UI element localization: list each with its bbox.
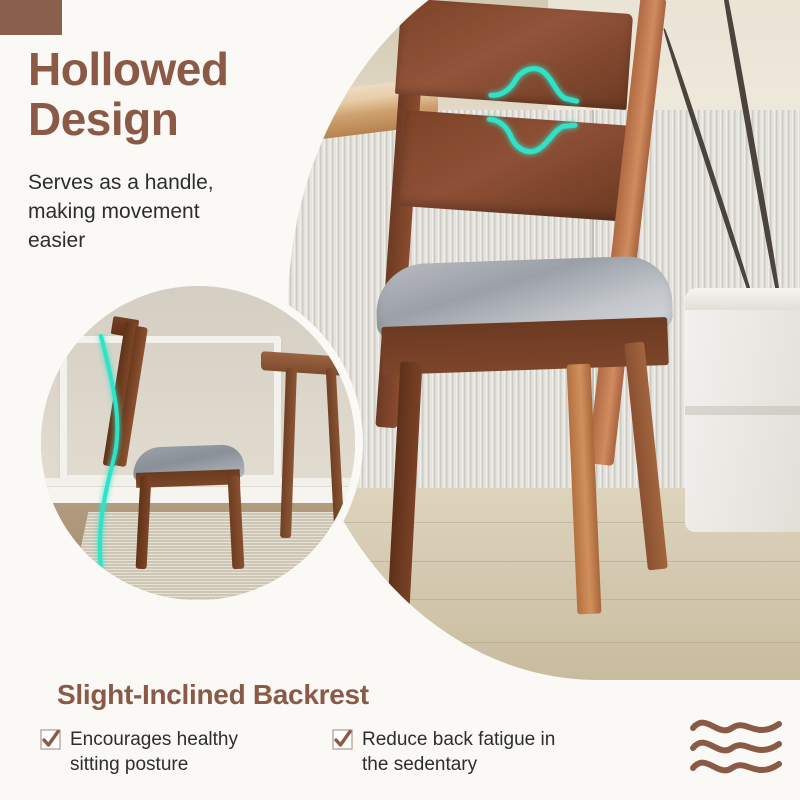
triple-wave-icon — [690, 714, 782, 780]
corner-block-decoration — [0, 0, 62, 35]
bullet-2-line-1: Reduce back fatigue in — [362, 729, 555, 750]
chair-front-view — [366, 0, 786, 632]
list-item: Encourages healthy sitting posture — [40, 727, 286, 777]
checkbox-checked-icon — [40, 729, 61, 750]
chair-leg-back-side — [227, 476, 244, 569]
feature-bullet-list: Encourages healthy sitting posture Reduc… — [40, 727, 640, 777]
chair-seat-apron-side — [136, 469, 241, 488]
checkbox-checked-icon — [332, 729, 353, 750]
marketing-banner: Hollowed Design Serves as a handle, maki… — [0, 0, 800, 800]
list-item-label: Encourages healthy sitting posture — [70, 727, 238, 777]
subhead-line-2: making movement — [28, 197, 290, 226]
list-item: Reduce back fatigue in the sedentary — [332, 727, 578, 777]
dining-chair-side-photo — [41, 286, 355, 600]
subhead-line-1: Serves as a handle, — [28, 168, 290, 197]
headline-line-1: Hollowed — [28, 44, 328, 94]
subheadline: Serves as a handle, making movement easi… — [28, 168, 290, 255]
bullet-2-line-2: the sedentary — [362, 754, 477, 775]
dining-chair-front-photo — [288, 0, 800, 680]
chair-leg-front-side — [136, 476, 152, 569]
chair-side-view — [104, 321, 267, 572]
chair-leg-back-right — [624, 342, 668, 571]
headline-line-2: Design — [28, 94, 328, 144]
hollowed-backrest-cutout — [472, 46, 588, 173]
list-item-label: Reduce back fatigue in the sedentary — [362, 727, 555, 777]
bullet-1-line-2: sitting posture — [70, 754, 188, 775]
page-title: Hollowed Design — [28, 44, 328, 144]
bullet-1-line-1: Encourages healthy — [70, 729, 238, 750]
subhead-line-3: easier — [28, 226, 290, 255]
feature-title: Slight-Inclined Backrest — [57, 679, 369, 711]
